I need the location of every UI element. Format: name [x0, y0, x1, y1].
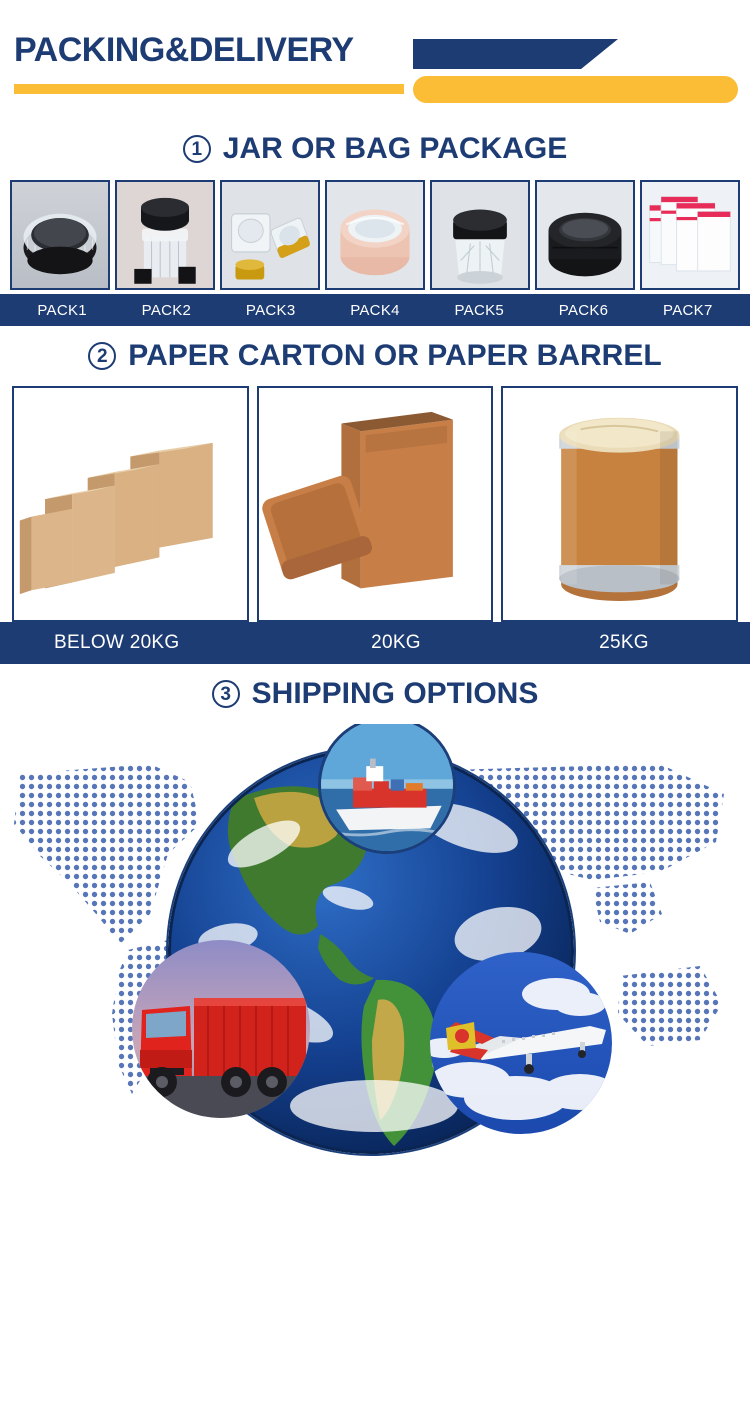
pack-thumbnail-row: [0, 180, 750, 294]
pack-label-7: PACK7: [636, 302, 740, 319]
air-freight-circle[interactable]: [430, 952, 612, 1134]
section-number-icon: 1: [183, 135, 211, 163]
black-ribbed-glass-jar-icon: [12, 182, 108, 288]
clear-square-jar-black-lid-icon: [117, 182, 213, 288]
pack-thumbnail-7[interactable]: [640, 180, 740, 290]
black-round-tin-icon: [537, 182, 633, 288]
land-freight-circle[interactable]: [132, 940, 310, 1118]
header-decor-yellow-bar: [413, 76, 738, 103]
section-heading-shipping-options: 3 SHIPPING OPTIONS: [0, 664, 750, 724]
carton-label-3: 25KG: [510, 632, 738, 654]
section-heading-jar-or-bag-package: 1 JAR OR BAG PACKAGE: [0, 118, 750, 180]
section-title: SHIPPING OPTIONS: [252, 677, 539, 711]
pack-label-1: PACK1: [10, 302, 114, 319]
section-title: JAR OR BAG PACKAGE: [223, 132, 567, 166]
paper-barrel-drum-icon: [503, 388, 736, 620]
square-acrylic-jar-gold-lid-icon: [222, 182, 318, 288]
carton-label-1: BELOW 20KG: [12, 632, 282, 654]
header-decor-blue-bar: [413, 39, 618, 69]
section-number-icon: 3: [212, 680, 240, 708]
pack-label-2: PACK2: [114, 302, 218, 319]
shipping-options-panel: DHL TNT UPS Fed Ex: [0, 724, 750, 1324]
section-heading-paper-carton-or-paper-barrel: 2 PAPER CARTON OR PAPER BARREL: [0, 326, 750, 386]
pack-thumbnail-5[interactable]: [430, 180, 530, 290]
pack-label-bar: PACK1 PACK2 PACK3 PACK4 PACK5 PACK6 PACK…: [0, 294, 750, 326]
pack-label-6: PACK6: [531, 302, 635, 319]
carton-thumbnail-2[interactable]: [257, 386, 494, 622]
zip-lock-bags-icon: [642, 182, 738, 288]
page-title: PACKING&DELIVERY: [14, 33, 354, 67]
pack-thumbnail-2[interactable]: [115, 180, 215, 290]
rose-gold-round-jar-icon: [327, 182, 423, 288]
carton-thumbnail-1[interactable]: [12, 386, 249, 622]
page-header: PACKING&DELIVERY: [0, 0, 750, 118]
stacked-cartons-icon: [14, 388, 247, 620]
pack-label-4: PACK4: [323, 302, 427, 319]
square-paper-carton-with-lid-icon: [259, 388, 492, 620]
pack-thumbnail-3[interactable]: [220, 180, 320, 290]
carton-thumbnail-3[interactable]: [501, 386, 738, 622]
carton-label-bar: BELOW 20KG 20KG 25KG: [0, 622, 750, 664]
carton-image-row: [0, 386, 750, 622]
pack-label-5: PACK5: [427, 302, 531, 319]
section-title: PAPER CARTON OR PAPER BARREL: [128, 339, 661, 373]
pack-label-3: PACK3: [219, 302, 323, 319]
pack-thumbnail-4[interactable]: [325, 180, 425, 290]
pack-thumbnail-6[interactable]: [535, 180, 635, 290]
carton-label-2: 20KG: [282, 632, 510, 654]
title-underline-bar: [14, 84, 404, 94]
pack-thumbnail-1[interactable]: [10, 180, 110, 290]
section-number-icon: 2: [88, 342, 116, 370]
crystal-jar-black-lid-icon: [432, 182, 528, 288]
